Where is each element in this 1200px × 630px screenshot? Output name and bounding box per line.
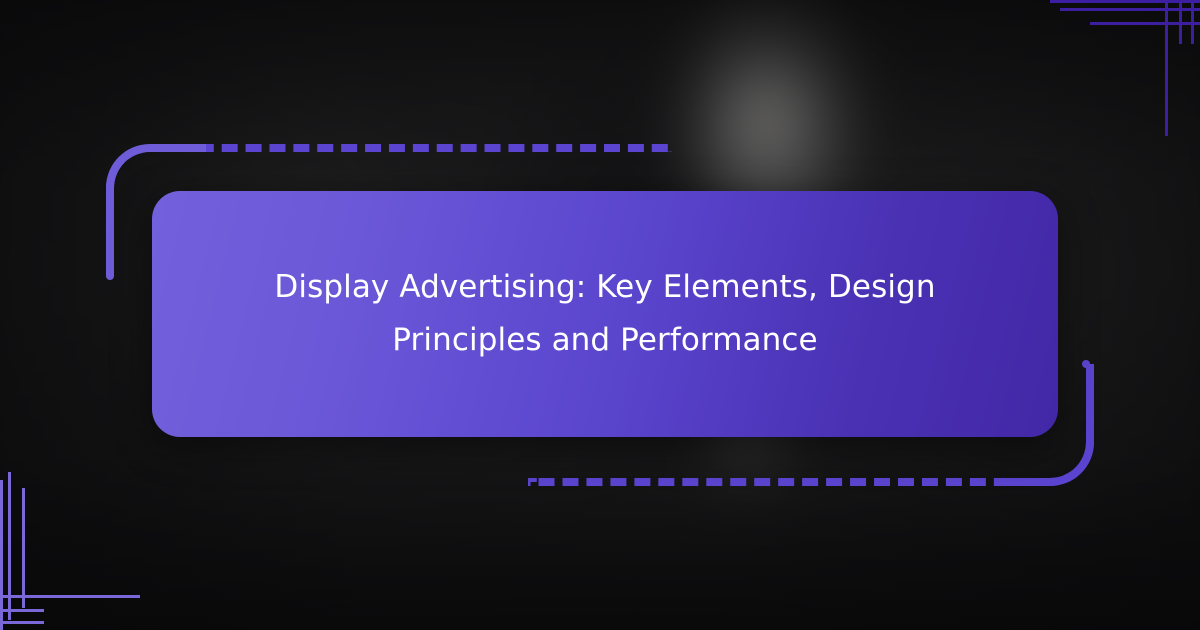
corner-line-vertical-3 — [0, 480, 3, 630]
corner-line-horizontal-3 — [1050, 0, 1200, 3]
line-cap-bottom-right — [1082, 360, 1090, 368]
corner-line-horizontal-2 — [1090, 22, 1200, 25]
corner-ornament-top-right — [1050, 0, 1200, 150]
title-card: Display Advertising: Key Elements, Desig… — [152, 191, 1058, 437]
corner-line-vertical-2 — [1179, 0, 1182, 44]
corner-line-horizontal-3 — [0, 621, 44, 624]
line-cap-top-left — [106, 272, 114, 280]
corner-line-vertical-3 — [1191, 0, 1194, 44]
corner-line-vertical-1 — [1165, 0, 1168, 136]
page-title: Display Advertising: Key Elements, Desig… — [265, 261, 945, 368]
corner-line-horizontal-2 — [0, 609, 44, 612]
corner-ornament-bottom-left — [0, 470, 150, 630]
banner-canvas: Display Advertising: Key Elements, Desig… — [0, 0, 1200, 630]
corner-line-horizontal-1 — [0, 595, 140, 598]
corner-line-vertical-2 — [22, 488, 25, 608]
